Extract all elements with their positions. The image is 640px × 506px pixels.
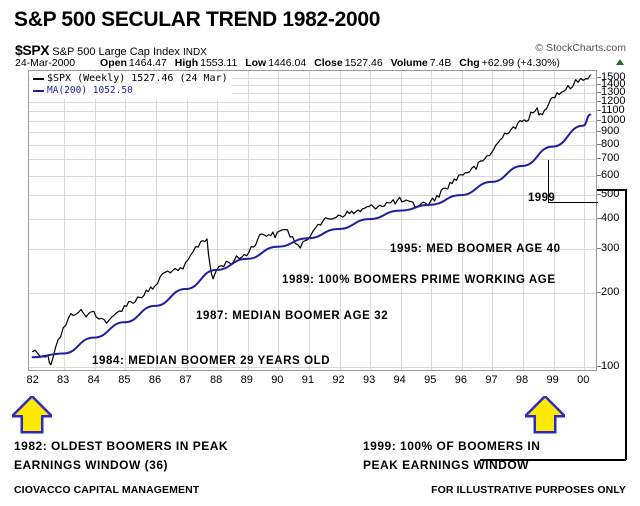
legend-price-label: $SPX (Weekly) 1527.46 (24 Mar) bbox=[47, 73, 228, 85]
bottom-annotation-1: 1999: 100% OF BOOMERS INPEAK EARNINGS WI… bbox=[363, 437, 540, 475]
chart-annotation-3: 1984: MEDIAN BOOMER 29 YEARS OLD bbox=[92, 355, 330, 367]
callout-1999-label: 1999 bbox=[528, 192, 555, 204]
legend-row-price: $SPX (Weekly) 1527.46 (24 Mar) bbox=[33, 73, 228, 85]
bottom-annotation-line: PEAK EARNINGS WINDOW bbox=[363, 456, 540, 475]
bottom-annotation-line: EARNINGS WINDOW (36) bbox=[14, 456, 228, 475]
bottom-annotation-line: 1999: 100% OF BOOMERS IN bbox=[363, 437, 540, 456]
chart-legend: $SPX (Weekly) 1527.46 (24 Mar) MA(200) 1… bbox=[30, 72, 232, 99]
footer-right-text: FOR ILLUSTRATIVE PURPOSES ONLY bbox=[431, 484, 626, 496]
chart-annotation-1: 1989: 100% BOOMERS PRIME WORKING AGE bbox=[282, 274, 556, 286]
bracket-vertical-segment bbox=[625, 189, 627, 460]
legend-row-ma: MA(200) 1052.50 bbox=[33, 85, 228, 97]
footer-left-text: CIOVACCO CAPITAL MANAGEMENT bbox=[14, 484, 199, 496]
ma-line-swatch-icon bbox=[33, 90, 44, 92]
legend-ma-label: MA(200) 1052.50 bbox=[47, 85, 133, 97]
chart-annotation-0: 1995: MED BOOMER AGE 40 bbox=[390, 243, 561, 255]
callout-1999-horizontal-leader bbox=[548, 202, 598, 203]
bottom-annotation-0: 1982: OLDEST BOOMERS IN PEAKEARNINGS WIN… bbox=[14, 437, 228, 475]
arrow-up-1982 bbox=[12, 396, 52, 434]
chart-annotation-2: 1987: MEDIAN BOOMER AGE 32 bbox=[196, 310, 388, 322]
bottom-annotation-line: 1982: OLDEST BOOMERS IN PEAK bbox=[14, 437, 228, 456]
arrow-up-1999 bbox=[525, 396, 565, 434]
bracket-top-segment bbox=[597, 189, 626, 191]
price-line-swatch-icon bbox=[33, 78, 44, 80]
